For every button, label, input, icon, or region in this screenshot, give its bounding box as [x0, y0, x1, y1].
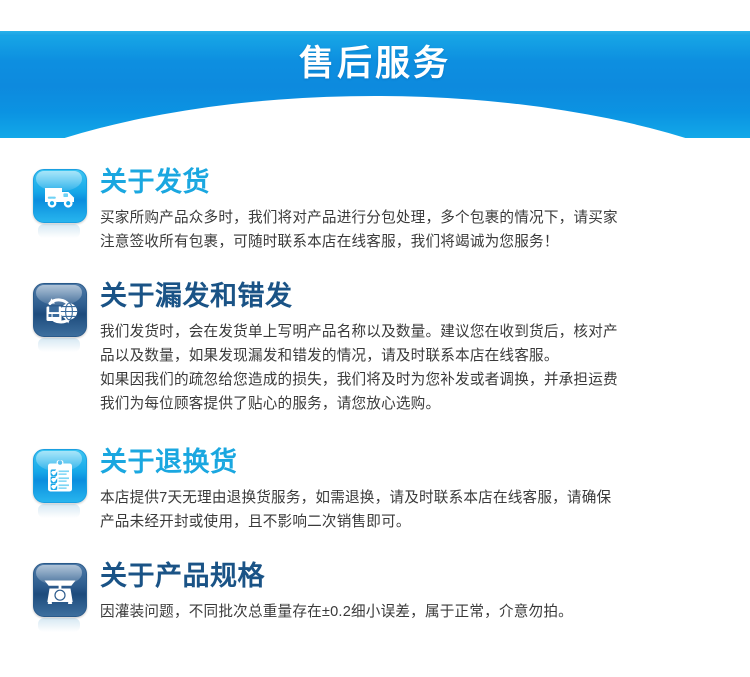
section-text: 买家所购产品众多时，我们将对产品进行分包处理，多个包裹的情况下，请买家 注意签收… — [100, 206, 722, 254]
package-exchange-globe-icon — [33, 283, 87, 337]
page-header-banner: 售后服务 — [0, 0, 750, 138]
section-title: 关于产品规格 — [100, 559, 722, 593]
icon-container — [33, 449, 85, 515]
icon-reflection — [38, 504, 80, 518]
kitchen-scale-icon — [33, 563, 87, 617]
section-about-product-specs: 关于产品规格 因灌装问题，不同批次总重量存在±0.2细小误差，属于正常，介意勿拍… — [0, 559, 750, 629]
section-text-line: 注意签收所有包裹，可随时联系本店在线客服，我们将竭诚为您服务！ — [100, 230, 722, 254]
section-body: 关于退换货 本店提供7天无理由退换货服务，如需退换，请及时联系本店在线客服，请确… — [100, 445, 722, 534]
section-about-returns-exchanges: 关于退换货 本店提供7天无理由退换货服务，如需退换，请及时联系本店在线客服，请确… — [0, 445, 750, 534]
section-text: 因灌装问题，不同批次总重量存在±0.2细小误差，属于正常，介意勿拍。 — [100, 600, 722, 624]
section-text: 我们发货时，会在发货单上写明产品名称以及数量。建议您在收到货后，核对产 品以及数… — [100, 320, 722, 416]
section-text: 本店提供7天无理由退换货服务，如需退换，请及时联系本店在线客服，请确保 产品未经… — [100, 486, 722, 534]
section-text-line: 我们发货时，会在发货单上写明产品名称以及数量。建议您在收到货后，核对产 — [100, 320, 722, 344]
section-body: 关于发货 买家所购产品众多时，我们将对产品进行分包处理，多个包裹的情况下，请买家… — [100, 165, 722, 254]
section-title: 关于退换货 — [100, 445, 722, 479]
section-title: 关于发货 — [100, 165, 722, 199]
icon-reflection — [38, 338, 80, 352]
banner-top-strip — [0, 31, 750, 36]
clipboard-checklist-icon — [33, 449, 87, 503]
section-about-shipping: 关于发货 买家所购产品众多时，我们将对产品进行分包处理，多个包裹的情况下，请买家… — [0, 165, 750, 254]
section-text-line: 品以及数量，如果发现漏发和错发的情况，请及时联系本店在线客服。 — [100, 344, 722, 368]
section-text-line: 因灌装问题，不同批次总重量存在±0.2细小误差，属于正常，介意勿拍。 — [100, 600, 722, 624]
section-text-line: 产品未经开封或使用，且不影响二次销售即可。 — [100, 510, 722, 534]
section-text-line: 如果因我们的疏忽给您造成的损失，我们将及时为您补发或者调换，并承担运费 — [100, 368, 722, 392]
icon-reflection — [38, 224, 80, 238]
page-title: 售后服务 — [0, 41, 750, 86]
section-body: 关于产品规格 因灌装问题，不同批次总重量存在±0.2细小误差，属于正常，介意勿拍… — [100, 559, 722, 624]
section-text-line: 本店提供7天无理由退换货服务，如需退换，请及时联系本店在线客服，请确保 — [100, 486, 722, 510]
section-text-line: 买家所购产品众多时，我们将对产品进行分包处理，多个包裹的情况下，请买家 — [100, 206, 722, 230]
icon-reflection — [38, 618, 80, 632]
section-text-line: 我们为每位顾客提供了贴心的服务，请您放心选购。 — [100, 392, 722, 416]
icon-container — [33, 563, 85, 629]
service-sections: 关于发货 买家所购产品众多时，我们将对产品进行分包处理，多个包裹的情况下，请买家… — [0, 165, 750, 629]
section-about-missing-wrong-shipment: 关于漏发和错发 我们发货时，会在发货单上写明产品名称以及数量。建议您在收到货后，… — [0, 279, 750, 416]
icon-container — [33, 169, 85, 235]
icon-container — [33, 283, 85, 349]
delivery-truck-icon — [33, 169, 87, 223]
section-body: 关于漏发和错发 我们发货时，会在发货单上写明产品名称以及数量。建议您在收到货后，… — [100, 279, 722, 416]
section-title: 关于漏发和错发 — [100, 279, 722, 313]
